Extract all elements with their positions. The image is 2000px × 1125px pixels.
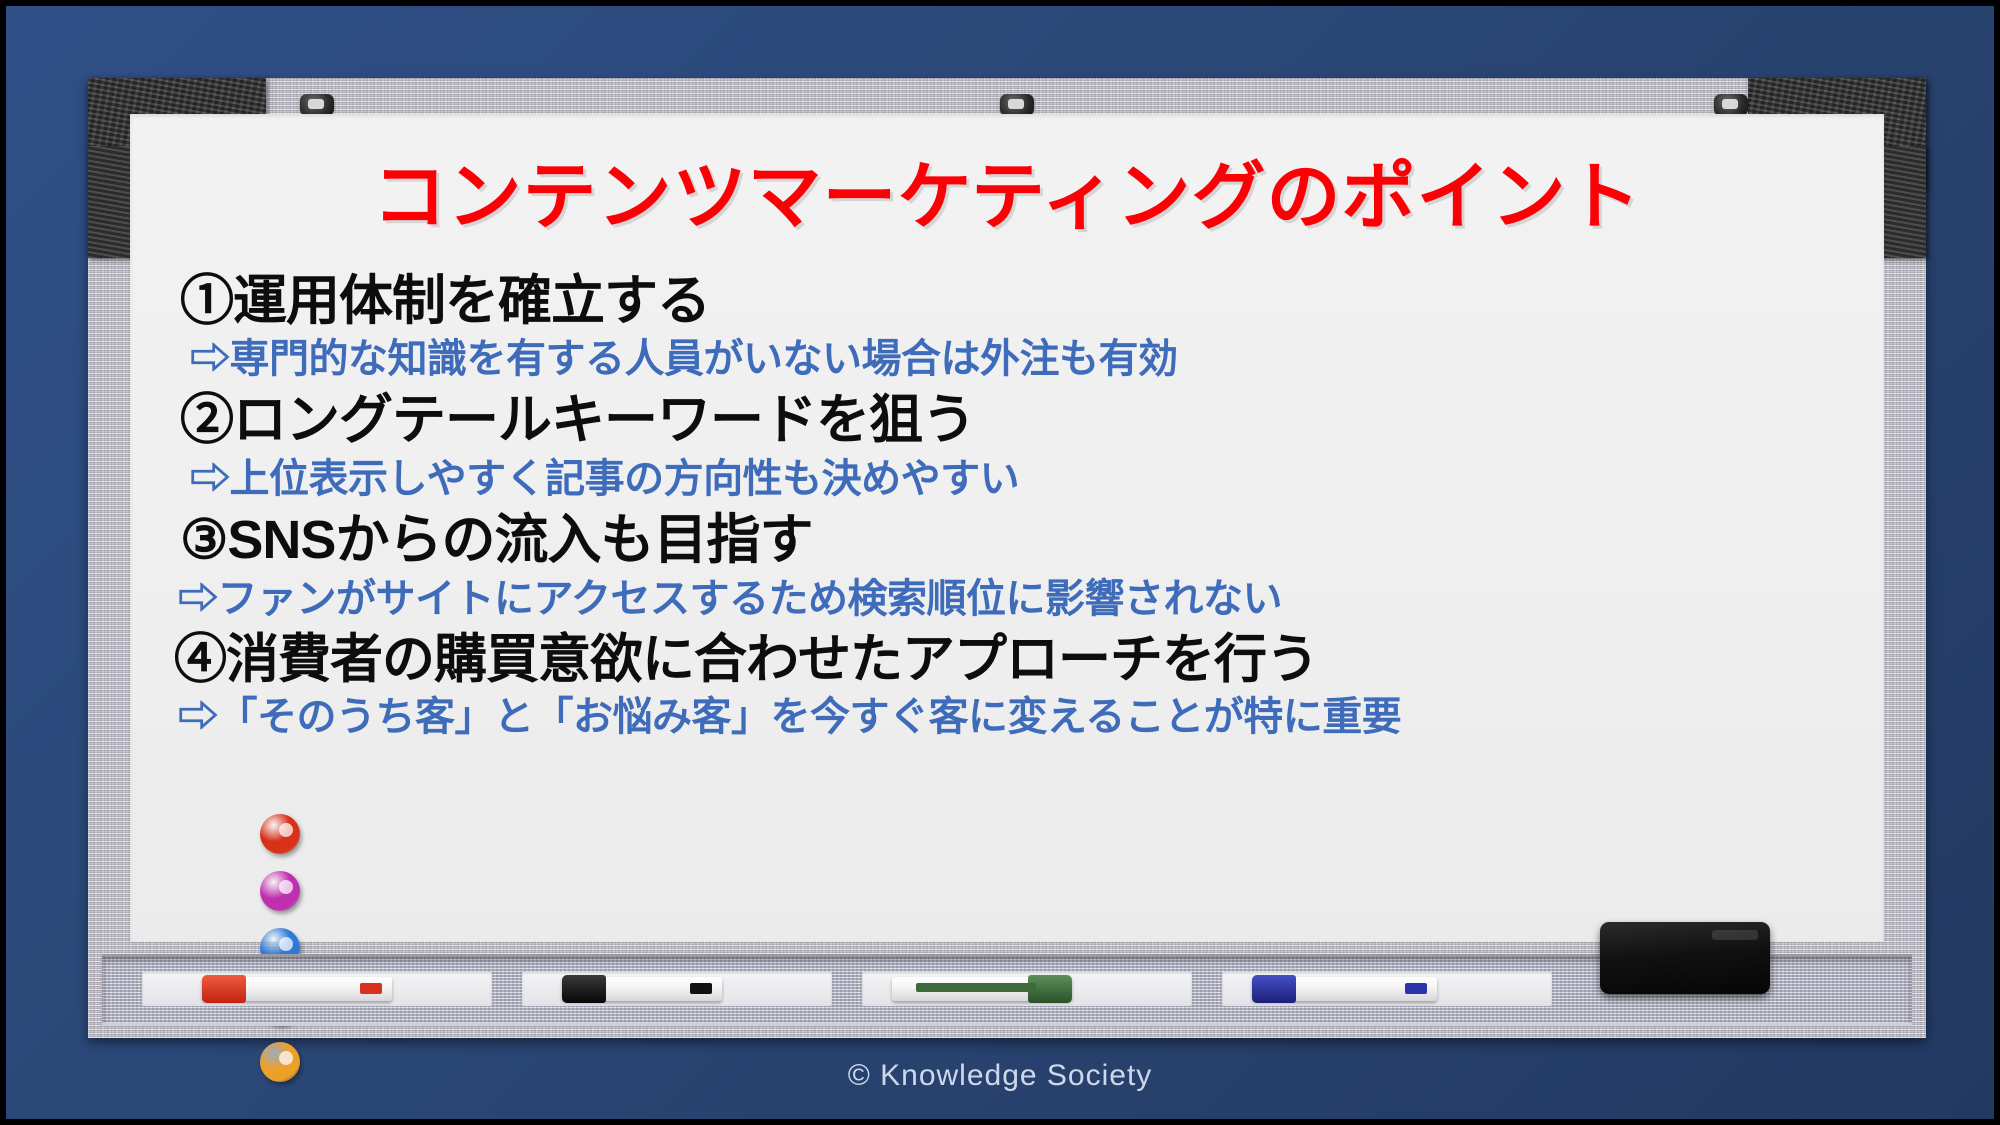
points-list: ①運用体制を確立する ⇨専門的な知識を有する人員がいない場合は外注も有効 ②ロン… — [164, 270, 1850, 742]
whiteboard-clip-center — [1000, 94, 1034, 116]
marker-tip — [690, 983, 712, 994]
list-item: ①運用体制を確立する ⇨専門的な知識を有する人員がいない場合は外注も有効 — [164, 270, 1850, 384]
copyright-footer: © Knowledge Society — [6, 1059, 1994, 1093]
whiteboard-clip-right — [1714, 94, 1748, 116]
slide-canvas: コンテンツマーケティングのポイント ①運用体制を確立する ⇨専門的な知識を有する… — [0, 0, 2000, 1125]
page-title: コンテンツマーケティングのポイント — [164, 158, 1850, 236]
magnet-red[interactable] — [260, 814, 300, 854]
point-detail-3: ⇨ファンがサイトにアクセスするため検索順位に影響されない — [164, 575, 1850, 623]
marker-tip — [916, 983, 1036, 992]
marker-green[interactable] — [892, 977, 1072, 1001]
marker-red[interactable] — [202, 977, 392, 1001]
point-heading-2: ②ロングテールキーワードを狙う — [164, 389, 1850, 453]
marker-cap — [1252, 975, 1296, 1003]
list-item: ③SNSからの流入も目指す ⇨ファンがサイトにアクセスするため検索順位に影響され… — [164, 509, 1850, 623]
whiteboard-clip-left — [300, 94, 334, 116]
list-item: ④消費者の購買意欲に合わせたアプローチを行う ⇨「そのうち客」と「お悩み客」を今… — [164, 629, 1850, 742]
marker-black[interactable] — [562, 977, 722, 1001]
marker-cap — [562, 975, 606, 1003]
whiteboard: コンテンツマーケティングのポイント ①運用体制を確立する ⇨専門的な知識を有する… — [88, 78, 1926, 1038]
point-heading-1: ①運用体制を確立する — [164, 270, 1850, 334]
marker-cap — [202, 975, 246, 1003]
point-detail-4: ⇨「そのうち客」と「お悩み客」を今すぐ客に変えることが特に重要 — [164, 693, 1850, 741]
marker-blue[interactable] — [1252, 977, 1437, 1001]
marker-tray — [102, 954, 1912, 1026]
clip-gleam — [1722, 99, 1738, 109]
point-detail-2: ⇨上位表示しやすく記事の方向性も決めやすい — [164, 455, 1850, 503]
slide-content: コンテンツマーケティングのポイント ①運用体制を確立する ⇨専門的な知識を有する… — [130, 114, 1884, 942]
clip-gleam — [1008, 99, 1024, 109]
point-detail-1: ⇨専門的な知識を有する人員がいない場合は外注も有効 — [164, 335, 1850, 383]
point-heading-4: ④消費者の購買意欲に合わせたアプローチを行う — [164, 629, 1850, 692]
point-heading-3: ③SNSからの流入も目指す — [164, 509, 1850, 573]
magnet-magenta[interactable] — [260, 871, 300, 911]
clip-gleam — [308, 99, 324, 109]
whiteboard-eraser[interactable] — [1600, 922, 1770, 994]
list-item: ②ロングテールキーワードを狙う ⇨上位表示しやすく記事の方向性も決めやすい — [164, 389, 1850, 503]
marker-tip — [360, 983, 382, 994]
marker-tip — [1405, 983, 1427, 994]
